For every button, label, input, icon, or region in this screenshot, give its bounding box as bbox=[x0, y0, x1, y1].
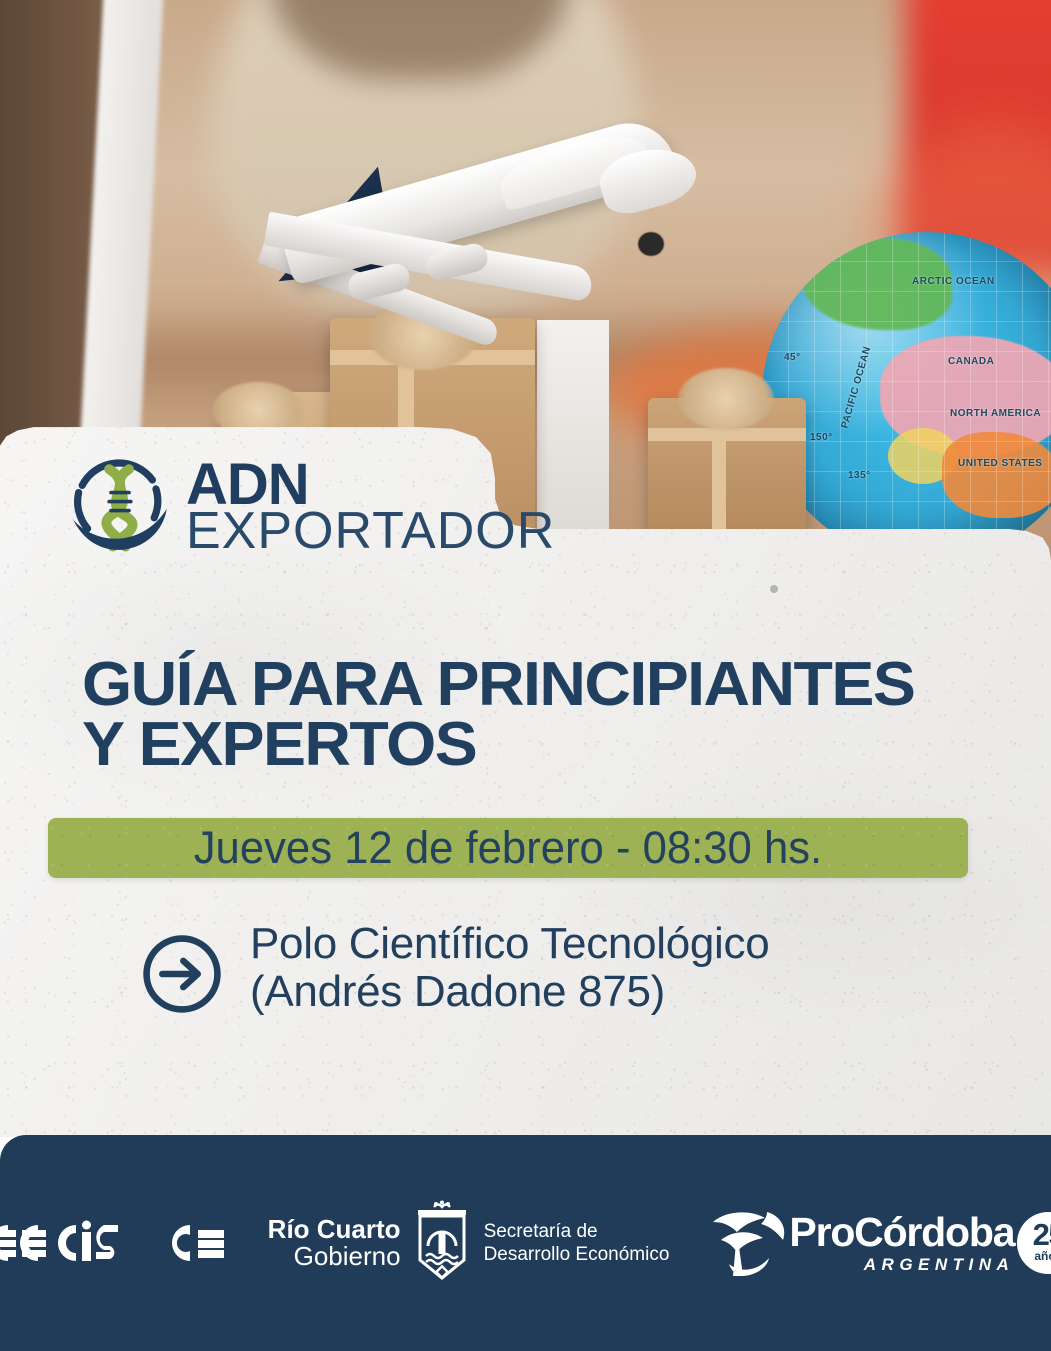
venue-line-1: Polo Científico Tecnológico bbox=[250, 920, 769, 968]
headline-line-2: Y EXPERTOS bbox=[82, 715, 1018, 775]
rio-cuarto-line-1: Río Cuarto bbox=[268, 1216, 401, 1243]
cecis-logo-icon bbox=[0, 1217, 122, 1269]
secretaria-wordmark: Secretaría de Desarrollo Económico bbox=[484, 1220, 670, 1266]
globe-label: NORTH AMERICA bbox=[950, 408, 1041, 419]
poster-canvas: ARCTIC OCEAN CANADA NORTH AMERICA UNITED… bbox=[0, 0, 1051, 1351]
globe-label: 135° bbox=[848, 470, 871, 481]
airplane-model bbox=[168, 120, 728, 380]
dna-helix-icon bbox=[66, 453, 174, 561]
globe-label: UNITED STATES bbox=[958, 458, 1042, 469]
procordoba-emblem-icon bbox=[707, 1206, 793, 1280]
sponsor-footer: Río Cuarto Gobierno Sec bbox=[0, 1135, 1051, 1351]
rio-cuarto-shield-icon bbox=[410, 1200, 474, 1286]
logo-line-exportador: EXPORTADOR bbox=[186, 508, 555, 556]
procordoba-wordmark: ProCórdoba ARGENTINA bbox=[789, 1212, 1014, 1275]
event-date-text: Jueves 12 de febrero - 08:30 hs. bbox=[194, 822, 822, 874]
rio-cuarto-wordmark: Río Cuarto Gobierno bbox=[268, 1216, 401, 1270]
airplane-landing-gear bbox=[638, 232, 664, 256]
sponsor-logo-rio-cuarto: Río Cuarto Gobierno Sec bbox=[268, 1200, 670, 1286]
page-title: GUÍA PARA PRINCIPIANTES Y EXPERTOS bbox=[82, 655, 1018, 774]
procordoba-name: ProCórdoba bbox=[789, 1212, 1014, 1253]
secretaria-line-1: Secretaría de bbox=[484, 1220, 670, 1243]
arrow-right-circle-icon bbox=[140, 932, 224, 1016]
ce-logo-icon bbox=[160, 1217, 230, 1269]
rio-cuarto-line-2: Gobierno bbox=[268, 1243, 401, 1270]
event-date-banner: Jueves 12 de febrero - 08:30 hs. bbox=[48, 818, 968, 878]
headline-line-1: GUÍA PARA PRINCIPIANTES bbox=[82, 650, 914, 719]
sponsor-logo-cecis bbox=[0, 1217, 122, 1269]
anniversary-number: 25 bbox=[1033, 1223, 1051, 1248]
procordoba-anniversary-badge: 25 años bbox=[1017, 1212, 1051, 1274]
globe-label: 45° bbox=[784, 352, 801, 363]
venue-line-2: (Andrés Dadone 875) bbox=[250, 968, 769, 1016]
logo-wordmark: ADN EXPORTADOR bbox=[186, 458, 555, 555]
procordoba-country: ARGENTINA bbox=[789, 1255, 1014, 1275]
globe-label: 150° bbox=[810, 432, 833, 443]
sponsor-logo-row: Río Cuarto Gobierno Sec bbox=[0, 1135, 1051, 1351]
globe-label: ARCTIC OCEAN bbox=[912, 276, 995, 287]
sponsor-logo-ce bbox=[160, 1217, 230, 1269]
venue-address: Polo Científico Tecnológico (Andrés Dado… bbox=[250, 920, 769, 1015]
globe-label: CANADA bbox=[948, 356, 994, 367]
adn-exportador-logo: ADN EXPORTADOR bbox=[66, 453, 555, 561]
anniversary-label: años bbox=[1034, 1249, 1051, 1263]
secretaria-line-2: Desarrollo Económico bbox=[484, 1243, 670, 1266]
sponsor-logo-procordoba: ProCórdoba ARGENTINA 25 años bbox=[707, 1206, 1051, 1280]
card-speck bbox=[770, 585, 778, 593]
venue-block: Polo Científico Tecnológico (Andrés Dado… bbox=[140, 920, 769, 1016]
